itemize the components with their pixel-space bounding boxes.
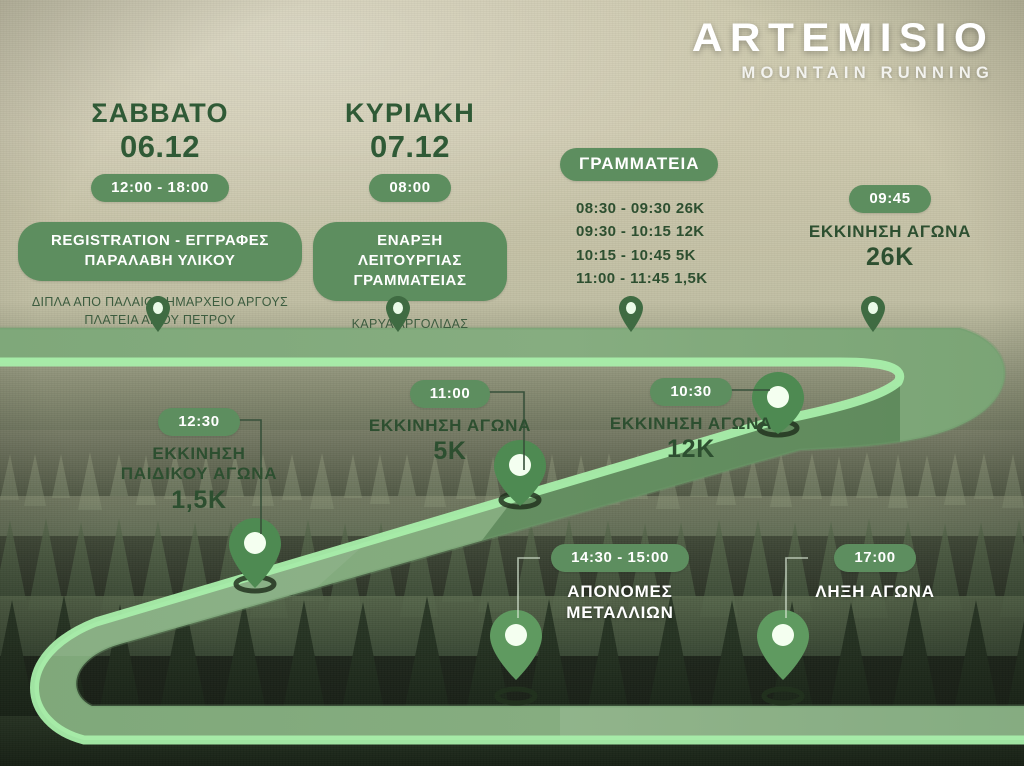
start-12k-time-pill: 10:30 bbox=[650, 378, 731, 406]
callout-race-end: 17:00 ΛΗΞΗ ΑΓΩΝΑ bbox=[790, 544, 960, 602]
saturday-title-line1: REGISTRATION - ΕΓΓΡΑΦΕΣ bbox=[51, 232, 269, 249]
start-5k-label-text: ΕΚΚΙΝΗΣΗ ΑΓΩΝΑ bbox=[369, 416, 531, 435]
callout-medal-ceremony: 14:30 - 15:00 ΑΠΟΝΟΜΕΣ ΜΕΤΑΛΛΙΩΝ bbox=[530, 544, 710, 624]
saturday-title-line2: ΠΑΡΑΛΑΒΗ ΥΛΙΚΟΥ bbox=[84, 252, 235, 269]
map-pin-small-sunday[interactable] bbox=[386, 296, 410, 332]
start-12k-label-text: ΕΚΚΙΝΗΣΗ ΑΓΩΝΑ bbox=[610, 414, 772, 433]
callout-start-5k: 11:00 ΕΚΚΙΝΗΣΗ ΑΓΩΝΑ 5K bbox=[360, 380, 540, 468]
medals-time-pill: 14:30 - 15:00 bbox=[551, 544, 689, 572]
medals-label-line1: ΑΠΟΝΟΜΕΣ bbox=[567, 582, 672, 601]
sunday-title-pill: ΕΝΑΡΞΗ ΛΕΙΤΟΥΡΓΙΑΣ ΓΡΑΜΜΑΤΕΙΑΣ bbox=[313, 222, 507, 302]
finish-label: ΛΗΞΗ ΑΓΩΝΑ bbox=[815, 581, 935, 602]
sunday-date: 07.12 bbox=[370, 129, 450, 165]
sunday-title-line2: ΓΡΑΜΜΑΤΕΙΑΣ bbox=[353, 272, 466, 289]
sunday-info-block: ΚΥΡΙΑΚΗ 07.12 08:00 ΕΝΑΡΞΗ ΛΕΙΤΟΥΡΓΙΑΣ Γ… bbox=[310, 98, 510, 334]
finish-time-pill: 17:00 bbox=[834, 544, 915, 572]
secretariat-row: 11:00 - 11:45 1,5K bbox=[576, 267, 707, 290]
map-pin-large-finish[interactable] bbox=[757, 610, 809, 710]
saturday-time-pill: 12:00 - 18:00 bbox=[91, 174, 229, 202]
secretariat-title-pill: ΓΡΑΜΜΑΤΕΙΑ bbox=[560, 148, 718, 181]
map-pin-small-start-26k[interactable] bbox=[861, 296, 885, 332]
secretariat-row: 10:15 - 10:45 5K bbox=[576, 244, 707, 267]
start-5k-distance: 5K bbox=[369, 436, 531, 467]
start-26k-block: 09:45 ΕΚΚΙΝΗΣΗ ΑΓΩΝΑ 26K bbox=[790, 185, 990, 274]
start-12k-distance: 12K bbox=[610, 434, 772, 465]
event-logo: ARTEMISIO MOUNTAIN RUNNING bbox=[709, 18, 994, 82]
secretariat-schedule-list: 08:30 - 09:30 26K 09:30 - 10:15 12K 10:1… bbox=[576, 197, 707, 290]
start-26k-label-text: ΕΚΚΙΝΗΣΗ ΑΓΩΝΑ bbox=[809, 222, 971, 241]
map-pin-small-saturday[interactable] bbox=[146, 296, 170, 332]
start-1-5k-distance: 1,5K bbox=[121, 485, 277, 516]
start-1-5k-label-line1: ΕΚΚΙΝΗΣΗ bbox=[152, 444, 245, 463]
start-1-5k-label: ΕΚΚΙΝΗΣΗ ΠΑΙΔΙΚΟΥ ΑΓΩΝΑ 1,5K bbox=[121, 444, 277, 516]
saturday-title-pill: REGISTRATION - ΕΓΓΡΑΦΕΣ ΠΑΡΑΛΑΒΗ ΥΛΙΚΟΥ bbox=[18, 222, 302, 282]
start-1-5k-time-pill: 12:30 bbox=[158, 408, 239, 436]
sunday-time-pill: 08:00 bbox=[369, 174, 450, 202]
logo-brand-name: ARTEMISIO bbox=[692, 18, 994, 58]
start-26k-time-pill: 09:45 bbox=[849, 185, 930, 213]
secretariat-row: 09:30 - 10:15 12K bbox=[576, 220, 707, 243]
map-pin-small-secretariat[interactable] bbox=[619, 296, 643, 332]
saturday-day-name: ΣΑΒΒΑΤΟ bbox=[91, 98, 228, 129]
sunday-title-line1: ΕΝΑΡΞΗ ΛΕΙΤΟΥΡΓΙΑΣ bbox=[358, 232, 462, 269]
callout-start-1-5k: 12:30 ΕΚΚΙΝΗΣΗ ΠΑΙΔΙΚΟΥ ΑΓΩΝΑ 1,5K bbox=[104, 408, 294, 516]
logo-tagline: MOUNTAIN RUNNING bbox=[709, 65, 994, 82]
secretariat-block: ΓΡΑΜΜΑΤΕΙΑ 08:30 - 09:30 26K 09:30 - 10:… bbox=[560, 148, 760, 290]
saturday-info-block: ΣΑΒΒΑΤΟ 06.12 12:00 - 18:00 REGISTRATION… bbox=[18, 98, 302, 329]
map-pin-large-medals[interactable] bbox=[490, 610, 542, 710]
start-26k-distance: 26K bbox=[809, 242, 971, 273]
medals-label: ΑΠΟΝΟΜΕΣ ΜΕΤΑΛΛΙΩΝ bbox=[566, 581, 673, 624]
callout-start-12k: 10:30 ΕΚΚΙΝΗΣΗ ΑΓΩΝΑ 12K bbox=[596, 378, 786, 466]
medals-label-line2: ΜΕΤΑΛΛΙΩΝ bbox=[566, 603, 673, 622]
event-schedule-poster: ARTEMISIO MOUNTAIN RUNNING ΣΑΒΒΑΤΟ 06.12… bbox=[0, 0, 1024, 766]
sunday-day-name: ΚΥΡΙΑΚΗ bbox=[345, 98, 475, 129]
start-1-5k-label-line2: ΠΑΙΔΙΚΟΥ ΑΓΩΝΑ bbox=[121, 464, 277, 483]
secretariat-row: 08:30 - 09:30 26K bbox=[576, 197, 707, 220]
sunday-location-note: ΚΑΡΥΑ ΑΡΓΟΛΙΔΑΣ bbox=[352, 315, 469, 333]
start-12k-label: ΕΚΚΙΝΗΣΗ ΑΓΩΝΑ 12K bbox=[610, 414, 772, 466]
start-26k-label: ΕΚΚΙΝΗΣΗ ΑΓΩΝΑ 26K bbox=[809, 222, 971, 274]
start-5k-label: ΕΚΚΙΝΗΣΗ ΑΓΩΝΑ 5K bbox=[369, 416, 531, 468]
map-pin-large-start-15k[interactable] bbox=[229, 518, 281, 604]
start-5k-time-pill: 11:00 bbox=[410, 380, 491, 408]
saturday-date: 06.12 bbox=[120, 129, 200, 165]
